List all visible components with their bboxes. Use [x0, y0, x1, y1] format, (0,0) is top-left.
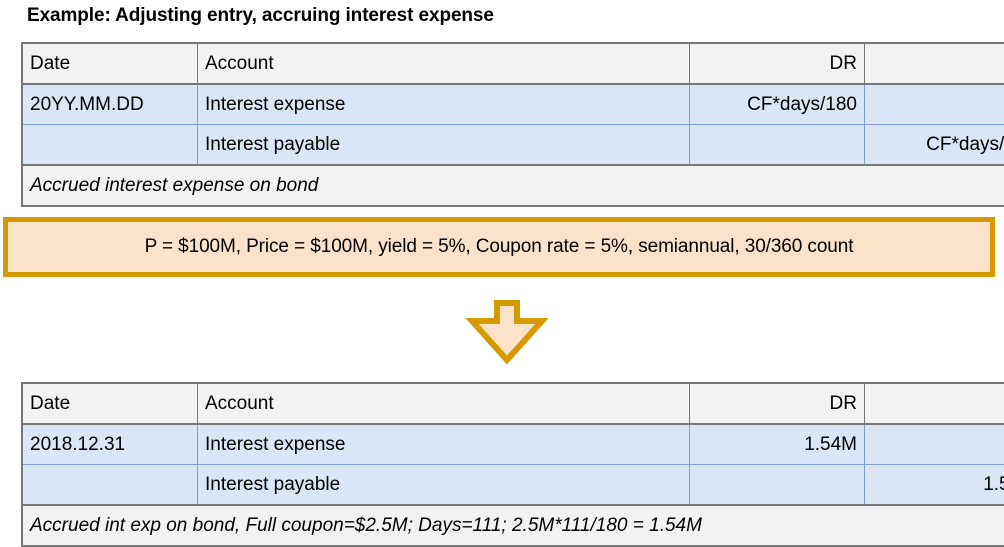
- header-dr: DR: [690, 383, 865, 424]
- cell-account: Interest payable: [198, 125, 690, 166]
- cell-date: [22, 125, 198, 166]
- arrow-down-icon: [466, 300, 548, 364]
- table-row: 2018.12.31 Interest expense 1.54M: [22, 424, 1004, 465]
- table-row: 20YY.MM.DD Interest expense CF*days/180: [22, 84, 1004, 125]
- header-date: Date: [22, 383, 198, 424]
- cell-dr: [690, 465, 865, 506]
- header-date: Date: [22, 43, 198, 84]
- cell-cr: [865, 84, 1004, 125]
- assumptions-callout: P = $100M, Price = $100M, yield = 5%, Co…: [3, 217, 995, 277]
- cell-account: Interest expense: [198, 84, 690, 125]
- cell-dr: 1.54M: [690, 424, 865, 465]
- memo-text: Accrued interest expense on bond: [22, 165, 1004, 206]
- journal-entry-table-generic: Date Account DR CR 20YY.MM.DD Interest e…: [21, 42, 1004, 207]
- cell-cr: [865, 424, 1004, 465]
- cell-dr: [690, 125, 865, 166]
- cell-cr: 1.54M: [865, 465, 1004, 506]
- table-header-row: Date Account DR CR: [22, 383, 1004, 424]
- table-memo-row: Accrued interest expense on bond: [22, 165, 1004, 206]
- table-memo-row: Accrued int exp on bond, Full coupon=$2.…: [22, 505, 1004, 546]
- header-account: Account: [198, 383, 690, 424]
- header-cr: CR: [865, 43, 1004, 84]
- assumptions-text: P = $100M, Price = $100M, yield = 5%, Co…: [145, 236, 854, 258]
- cell-date: [22, 465, 198, 506]
- header-cr: CR: [865, 383, 1004, 424]
- cell-account: Interest expense: [198, 424, 690, 465]
- cell-date: 20YY.MM.DD: [22, 84, 198, 125]
- cell-dr: CF*days/180: [690, 84, 865, 125]
- page-title: Example: Adjusting entry, accruing inter…: [27, 5, 494, 27]
- journal-entry-table-worked: Date Account DR CR 2018.12.31 Interest e…: [21, 382, 1004, 547]
- table-row: Interest payable CF*days/180: [22, 125, 1004, 166]
- cell-cr: CF*days/180: [865, 125, 1004, 166]
- table-row: Interest payable 1.54M: [22, 465, 1004, 506]
- header-dr: DR: [690, 43, 865, 84]
- table-header-row: Date Account DR CR: [22, 43, 1004, 84]
- cell-date: 2018.12.31: [22, 424, 198, 465]
- cell-account: Interest payable: [198, 465, 690, 506]
- memo-text: Accrued int exp on bond, Full coupon=$2.…: [22, 505, 1004, 546]
- header-account: Account: [198, 43, 690, 84]
